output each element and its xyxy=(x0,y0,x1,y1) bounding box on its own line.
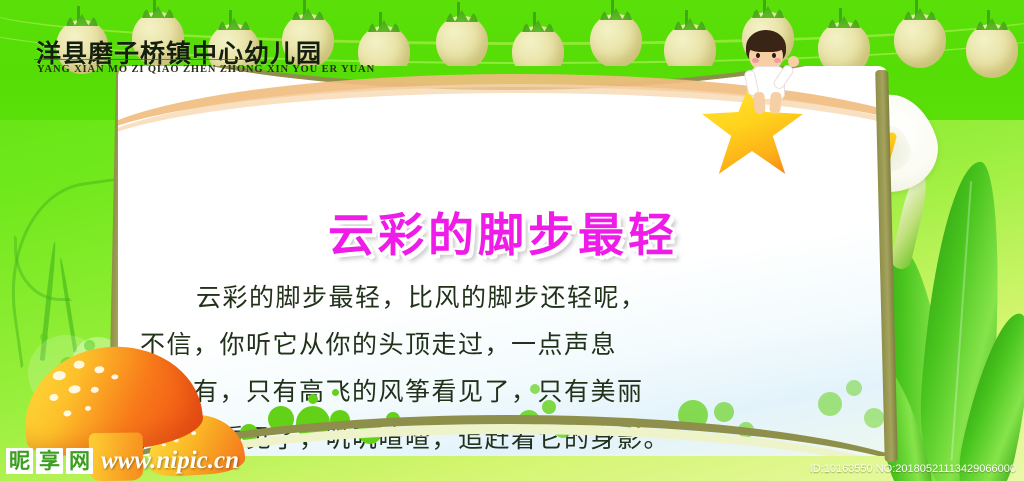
mushroom-spot xyxy=(73,360,85,369)
splatter-bubble xyxy=(542,400,556,414)
bubble-decor-icon xyxy=(40,333,48,341)
mushroom-spot xyxy=(94,366,105,374)
splatter-bubble xyxy=(332,389,339,396)
hanging-gourd-icon xyxy=(894,14,946,68)
watermark-url: www.nipic.cn xyxy=(101,447,239,475)
page-title: 云彩的脚步最轻 xyxy=(118,199,888,265)
mushroom-spot xyxy=(68,385,81,394)
hanging-gourd-icon xyxy=(590,14,642,68)
splatter-bubble xyxy=(714,402,734,422)
child-leg xyxy=(769,92,782,115)
splatter-bubble xyxy=(530,384,540,394)
splatter-bubble xyxy=(864,408,884,428)
splatter-bubble xyxy=(818,392,842,416)
header-divider xyxy=(34,59,249,60)
watermark-char: 网 xyxy=(66,448,93,474)
child-illustration xyxy=(740,30,806,112)
school-name-pinyin: YANG XIAN MO ZI QIAO ZHEN ZHONG XIN YOU … xyxy=(37,64,375,75)
child-fringe xyxy=(747,38,785,52)
splatter-bubble xyxy=(846,380,862,396)
splatter-bubble xyxy=(308,394,318,404)
poem-line: 也没有，只有高飞的风筝看见了，只有美丽 xyxy=(140,368,866,415)
watermark: 昵 享 网 www.nipic.cn xyxy=(6,447,239,475)
hanging-gourd-icon xyxy=(436,16,488,70)
mushroom-spot xyxy=(85,406,92,412)
child-hand xyxy=(788,56,799,67)
watermark-char: 享 xyxy=(36,448,63,474)
hanging-gourd-icon xyxy=(966,24,1018,78)
mushroom-spot xyxy=(49,393,59,401)
mushroom-spot xyxy=(111,374,119,380)
child-cheek xyxy=(752,58,759,63)
poem-line: 云彩的脚步最轻，比风的脚步还轻呢， xyxy=(140,274,866,321)
mushroom-spot xyxy=(90,386,99,393)
mushroom-spot xyxy=(63,410,72,417)
kindergarten-poster: 云彩的脚步最轻 云彩的脚步最轻，比风的脚步还轻呢， 不信，你听它从你的头顶走过，… xyxy=(0,0,1024,481)
child-on-star-graphic xyxy=(700,78,804,162)
watermark-brand: 昵 享 网 xyxy=(6,448,93,474)
poem-line: 不信，你听它从你的头顶走过，一点声息 xyxy=(140,321,866,368)
child-leg xyxy=(753,92,766,115)
mushroom-spot xyxy=(52,370,66,381)
image-id-tag: ID:10163550 NO:20180521113429066000 xyxy=(810,463,1016,475)
child-cheek xyxy=(774,58,781,63)
watermark-char: 昵 xyxy=(6,448,33,474)
